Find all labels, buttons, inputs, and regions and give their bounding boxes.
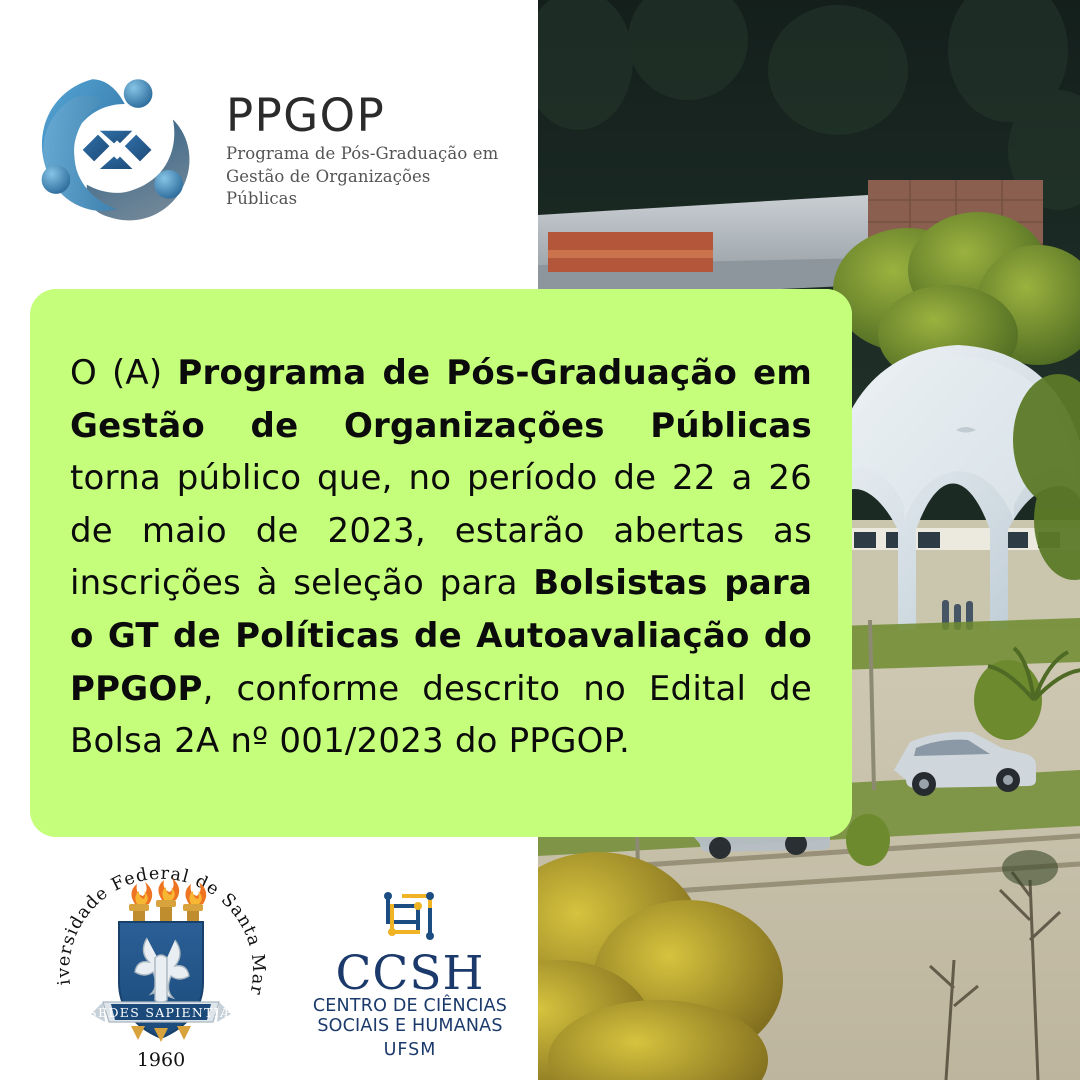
ccsh-institution: UFSM [310,1040,510,1060]
ppgop-wordmark: PPGOP Programa de Pós-Graduação em Gestã… [226,86,500,210]
ppgop-subtitle-line-2: Gestão de Organizações Públicas [226,166,500,210]
announcement-text: O (A) Programa de Pós-Graduação em Gestã… [70,347,812,768]
ppgop-acronym: PPGOP [226,92,500,139]
ufsm-seal-logo: Universidade Federal de Santa Maria [47,862,275,1074]
poster-canvas: PPGOP Programa de Pós-Graduação em Gestã… [0,0,1080,1080]
ppgop-emblem-icon [30,62,208,234]
announcement-intro: O (A) [70,353,177,393]
ccsh-name-line-2: SOCIAIS E HUMANAS [310,1017,510,1037]
ppgop-subtitle-line-1: Programa de Pós-Graduação em [226,143,500,165]
ppgop-logo: PPGOP Programa de Pós-Graduação em Gestã… [30,58,500,238]
ccsh-logo: CCSH CENTRO DE CIÊNCIAS SOCIAIS E HUMANA… [310,888,510,1048]
ufsm-year: 1960 [137,1049,185,1071]
ufsm-motto: SEDES SAPIENTIÆ [88,1005,234,1020]
ccsh-network-icon [374,888,446,948]
announcement-card: O (A) Programa de Pós-Graduação em Gestã… [30,289,852,837]
ccsh-name-line-1: CENTRO DE CIÊNCIAS [310,997,510,1017]
ccsh-acronym: CCSH [310,950,510,997]
announcement-bold-1: Programa de Pós-Graduação em Gestão de O… [70,353,812,446]
